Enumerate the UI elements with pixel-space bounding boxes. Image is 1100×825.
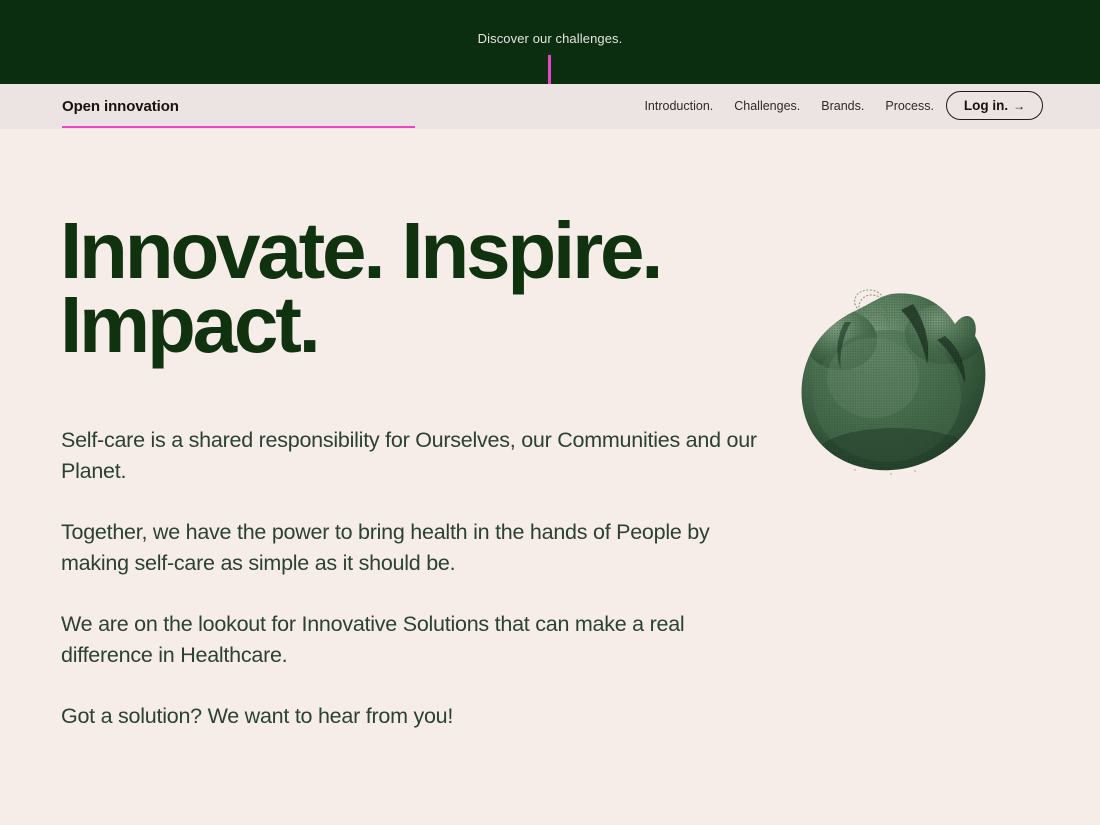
nav-link-challenges[interactable]: Challenges. [734,99,800,113]
hero-paragraph-4: Got a solution? We want to hear from you… [61,701,776,732]
nav-link-brands[interactable]: Brands. [821,99,864,113]
nav-link-process[interactable]: Process. [885,99,934,113]
brand-title[interactable]: Open innovation [62,98,179,115]
hero-body-copy: Self-care is a shared responsibility for… [61,425,776,732]
announcement-tick-marker [548,55,551,85]
page-title: Innovate. Inspire. Impact. [60,214,800,363]
nav-links: Introduction. Challenges. Brands. Proces… [644,99,934,113]
page-title-line-2: Impact. [60,288,800,362]
brand-underline [62,126,415,128]
page-title-line-1: Innovate. Inspire. [60,214,800,288]
hero-paragraph-3: We are on the lookout for Innovative Sol… [61,609,776,671]
login-button-label: Log in. [964,98,1008,113]
dotted-green-sphere-icon [795,278,990,483]
nav-link-introduction[interactable]: Introduction. [644,99,713,113]
hero-paragraph-1: Self-care is a shared responsibility for… [61,425,776,487]
login-button[interactable]: Log in. → [946,91,1043,120]
hero-paragraph-2: Together, we have the power to bring hea… [61,517,776,579]
announcement-text: Discover our challenges. [478,31,623,46]
arrow-right-icon: → [1013,100,1025,112]
